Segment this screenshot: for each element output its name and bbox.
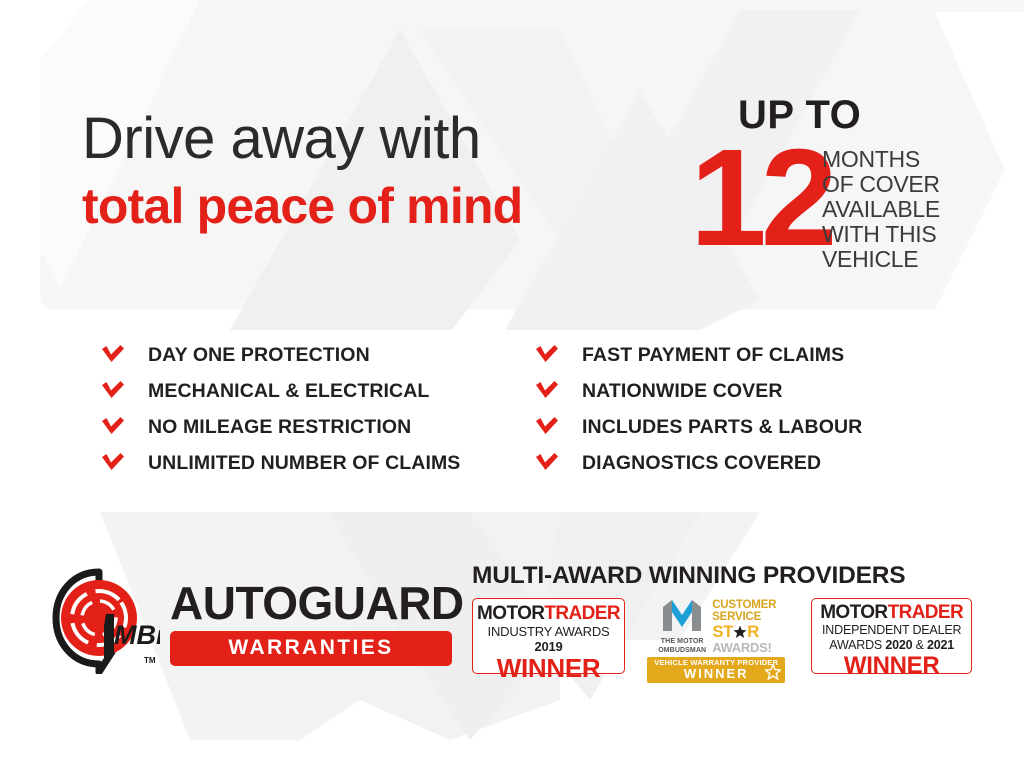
star-icon (733, 625, 747, 639)
footer-section: MBi TM AUTOGUARD WARRANTIES MULTI-AWARD … (0, 548, 1024, 698)
ombudsman-caption-line2: OMBUDSMAN (656, 647, 708, 655)
badge-brand-second: TRADER (544, 603, 620, 624)
warranties-label: WARRANTIES (228, 636, 393, 659)
headline-block: Drive away with total peace of mind (82, 108, 642, 234)
ombudsman-mark-icon (659, 598, 705, 632)
feature-item: DIAGNOSTICS COVERED (534, 446, 862, 480)
cover-offer-block: UP TO 12 MONTHS OF COVER AVAILABLE WITH … (690, 95, 990, 285)
promo-banner: Drive away with total peace of mind UP T… (0, 0, 1024, 768)
star-awards-line3-suffix: R (747, 623, 759, 641)
badge-brand: MOTORTRADER (816, 603, 967, 623)
feature-label: NATIONWIDE COVER (582, 380, 783, 403)
badge-result: WINNER (477, 654, 620, 682)
awards-block: MULTI-AWARD WINNING PROVIDERS MOTORTRADE… (472, 562, 972, 674)
badge-brand: MOTORTRADER (477, 604, 620, 624)
feature-label: MECHANICAL & ELECTRICAL (148, 380, 429, 403)
autoguard-logo: MBi TM AUTOGUARD WARRANTIES (52, 566, 452, 676)
award-badge-motortrader-2020-2021: MOTORTRADER INDEPENDENT DEALER AWARDS 20… (811, 598, 972, 674)
star-awards-line2: SERVICE (712, 611, 776, 623)
winner-ribbon: VEHICLE WARRANTY PROVIDER WINNER (647, 657, 785, 683)
headline-accent: total peace of mind (82, 178, 642, 234)
feature-item: MECHANICAL & ELECTRICAL (100, 374, 460, 408)
check-icon (534, 342, 560, 368)
check-icon (534, 414, 560, 440)
feature-label: DIAGNOSTICS COVERED (582, 452, 821, 475)
badge-year-second: 2021 (927, 638, 954, 652)
badge-subtitle: INDEPENDENT DEALER (816, 623, 967, 638)
badge-subtitle-text: INDUSTRY AWARDS (488, 624, 610, 639)
features-left-column: DAY ONE PROTECTION MECHANICAL & ELECTRIC… (100, 338, 460, 482)
offer-detail-line-5: VEHICLE (822, 247, 992, 272)
feature-label: INCLUDES PARTS & LABOUR (582, 416, 862, 439)
award-badge-customer-service-star: THE MOTOR OMBUDSMAN CUSTOMER SERVICE ST (647, 598, 785, 674)
offer-detail-line-2: OF COVER (822, 172, 992, 197)
badge-subtitle: INDUSTRY AWARDS 2019 (477, 624, 620, 654)
badge-subtitle-year: 2019 (534, 639, 562, 654)
feature-item: NATIONWIDE COVER (534, 374, 862, 408)
badge-years-prefix: AWARDS (829, 638, 885, 652)
offer-months-number: 12 (690, 129, 832, 267)
feature-label: DAY ONE PROTECTION (148, 344, 370, 367)
offer-detail-line-4: WITH THIS (822, 222, 992, 247)
award-badge-motortrader-2019: MOTORTRADER INDUSTRY AWARDS 2019 WINNER (472, 598, 625, 674)
awards-badge-row: MOTORTRADER INDUSTRY AWARDS 2019 WINNER (472, 598, 972, 674)
motor-ombudsman-logo: THE MOTOR OMBUDSMAN (656, 598, 708, 655)
headline-primary: Drive away with (82, 108, 642, 170)
badge-result: WINNER (816, 653, 967, 679)
feature-item: NO MILEAGE RESTRICTION (100, 410, 460, 444)
star-awards-line3-prefix: ST (712, 623, 733, 641)
feature-item: FAST PAYMENT OF CLAIMS (534, 338, 862, 372)
badge-brand-first: MOTOR (477, 603, 544, 624)
badge-subtitle-years: AWARDS 2020 & 2021 (816, 638, 967, 653)
badge-top-row: THE MOTOR OMBUDSMAN CUSTOMER SERVICE ST (647, 598, 785, 655)
badge-brand-second: TRADER (888, 602, 964, 623)
ombudsman-caption-line1: THE MOTOR (656, 638, 708, 646)
offer-detail-line-3: AVAILABLE (822, 197, 992, 222)
badge-year-first: 2020 (885, 638, 912, 652)
ribbon-star-icon (765, 664, 781, 680)
feature-item: DAY ONE PROTECTION (100, 338, 460, 372)
badge-brand-first: MOTOR (820, 602, 887, 623)
features-section: DAY ONE PROTECTION MECHANICAL & ELECTRIC… (0, 338, 1024, 488)
check-icon (100, 414, 126, 440)
check-icon (100, 450, 126, 476)
feature-label: FAST PAYMENT OF CLAIMS (582, 344, 844, 367)
check-icon (100, 378, 126, 404)
star-awards-line4: AWARDS! (712, 641, 776, 655)
feature-label: UNLIMITED NUMBER OF CLAIMS (148, 452, 460, 475)
badge-years-sep: & (912, 638, 927, 652)
hero-section: Drive away with total peace of mind UP T… (0, 0, 1024, 320)
offer-detail-line-1: MONTHS (822, 147, 992, 172)
check-icon (534, 450, 560, 476)
trademark-mark: TM (144, 656, 156, 665)
features-right-column: FAST PAYMENT OF CLAIMS NATIONWIDE COVER … (534, 338, 862, 482)
feature-item: INCLUDES PARTS & LABOUR (534, 410, 862, 444)
check-icon (100, 342, 126, 368)
mbi-logo-icon: MBi TM (52, 568, 160, 674)
star-awards-line3: ST R (712, 623, 776, 641)
feature-item: UNLIMITED NUMBER OF CLAIMS (100, 446, 460, 480)
autoguard-wordmark-block: AUTOGUARD WARRANTIES (170, 580, 452, 666)
mbi-wordmark: MBi (114, 620, 160, 650)
star-awards-text: CUSTOMER SERVICE ST R AWARDS! (712, 599, 776, 655)
awards-title: MULTI-AWARD WINNING PROVIDERS (472, 562, 972, 590)
check-icon (534, 378, 560, 404)
star-awards-line1: CUSTOMER (712, 599, 776, 611)
warranties-bar: WARRANTIES (170, 631, 452, 666)
feature-label: NO MILEAGE RESTRICTION (148, 416, 411, 439)
offer-detail-lines: MONTHS OF COVER AVAILABLE WITH THIS VEHI… (822, 147, 992, 272)
autoguard-wordmark: AUTOGUARD (170, 580, 452, 626)
